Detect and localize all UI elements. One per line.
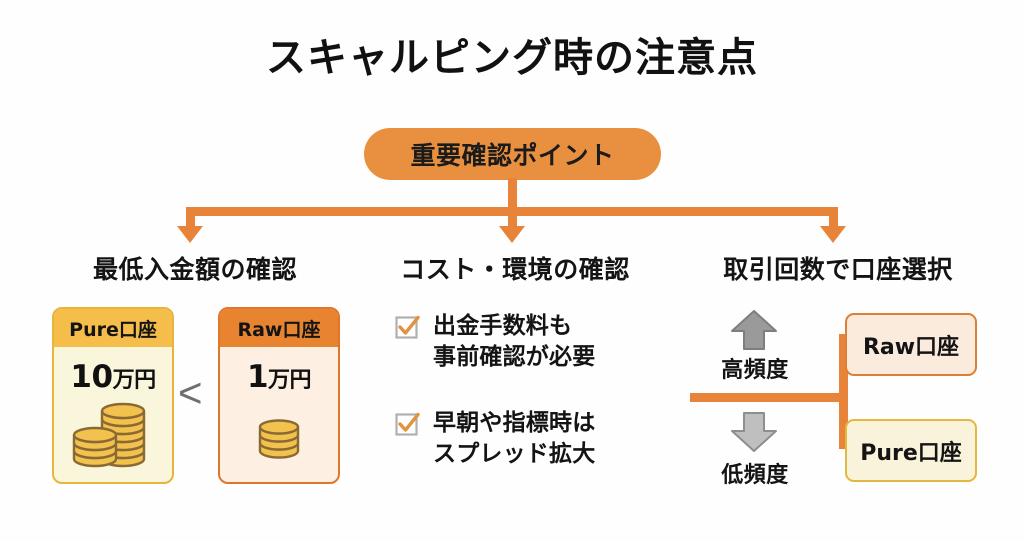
frequency-label-low: 低頻度 <box>703 457 807 489</box>
arrow-down-icon-left <box>177 226 203 243</box>
account-card-raw-amount-value: 1 <box>247 359 268 395</box>
hub-pill: 重要確認ポイント <box>364 128 661 180</box>
route-trunk <box>690 393 848 402</box>
result-card-raw: Raw口座 <box>845 313 977 376</box>
hub-pill-label: 重要確認ポイント <box>410 136 614 172</box>
checklist-item: 出金手数料も 事前確認が必要 <box>394 311 595 373</box>
result-card-pure: Pure口座 <box>845 419 977 482</box>
checklist-item-text: 早朝や指標時は スプレッド拡大 <box>433 408 595 470</box>
column-heading-cost-environment: コスト・環境の確認 <box>360 250 670 286</box>
coin-stack-double-icon <box>71 401 155 473</box>
coin-stack-single-icon <box>255 417 303 465</box>
checkbox-checked-icon <box>394 411 421 442</box>
account-card-pure-amount: 10万円 <box>70 359 155 395</box>
connector-stem <box>508 178 517 210</box>
result-card-raw-label: Raw口座 <box>863 329 959 361</box>
checklist-item: 早朝や指標時は スプレッド拡大 <box>394 408 595 470</box>
checklist-item-text: 出金手数料も 事前確認が必要 <box>433 311 595 373</box>
account-card-raw-title: Raw口座 <box>220 309 338 347</box>
account-card-pure-title: Pure口座 <box>54 309 172 347</box>
infographic-canvas: スキャルピング時の注意点 重要確認ポイント 最低入金額の確認 Pure口座 10… <box>0 0 1024 541</box>
arrow-down-icon-middle <box>499 226 525 243</box>
column-heading-minimum-deposit: 最低入金額の確認 <box>40 250 350 286</box>
account-card-pure-amount-unit: 万円 <box>113 368 156 393</box>
comparison-less-than-symbol: < <box>178 372 203 414</box>
account-card-pure-amount-value: 10 <box>70 359 112 395</box>
account-card-raw: Raw口座 1万円 <box>218 307 340 484</box>
arrow-down-icon-right <box>820 226 846 243</box>
arrow-up-icon <box>729 309 779 355</box>
checkbox-checked-icon <box>394 314 421 345</box>
column-heading-account-by-frequency: 取引回数で口座選択 <box>688 250 988 286</box>
account-card-pure: Pure口座 10万円 <box>52 307 174 484</box>
arrow-down-icon <box>729 411 779 457</box>
page-title: スキャルピング時の注意点 <box>0 36 1024 80</box>
account-card-pure-body: 10万円 <box>54 347 172 482</box>
result-card-pure-label: Pure口座 <box>860 435 962 467</box>
account-card-raw-amount: 1万円 <box>247 359 311 395</box>
account-card-raw-amount-unit: 万円 <box>268 368 311 393</box>
account-card-raw-body: 1万円 <box>220 347 338 482</box>
frequency-label-high: 高頻度 <box>703 352 807 384</box>
